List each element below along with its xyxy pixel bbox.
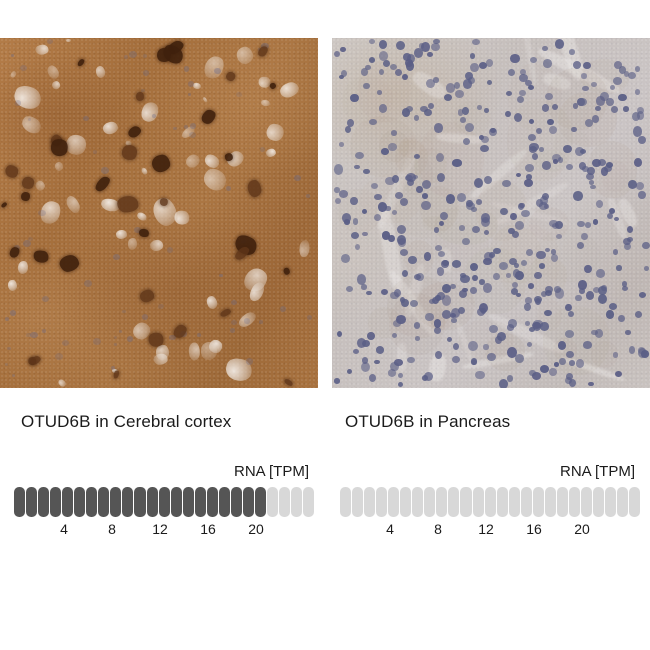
haematoxylin-nucleus (395, 69, 402, 76)
haematoxylin-nucleus (350, 94, 358, 103)
haematoxylin-nucleus (536, 251, 545, 260)
haematoxylin-nucleus (628, 72, 636, 79)
haematoxylin-nucleus (369, 57, 375, 63)
haematoxylin-nucleus (586, 291, 594, 299)
haematoxylin-nucleus (543, 59, 551, 68)
haematoxylin-nucleus (499, 262, 508, 270)
haematoxylin-nucleus (556, 234, 562, 239)
haematoxylin-nucleus (408, 256, 416, 264)
rna-bar-segment (533, 487, 544, 517)
haematoxylin-nucleus (583, 341, 592, 348)
haematoxylin-nucleus (363, 83, 370, 90)
haematoxylin-nucleus (595, 106, 601, 111)
haematoxylin-nucleus (376, 346, 384, 353)
rna-bar-segment (62, 487, 73, 517)
haematoxylin-nucleus (489, 128, 497, 136)
haematoxylin-nucleus (510, 54, 519, 63)
haematoxylin-nucleus (444, 94, 452, 101)
haematoxylin-nucleus (489, 252, 495, 258)
haematoxylin-nucleus (471, 358, 477, 365)
haematoxylin-nucleus (542, 161, 551, 169)
haematoxylin-nucleus (414, 322, 421, 328)
haematoxylin-nucleus (429, 299, 435, 304)
rna-bar-segment (279, 487, 290, 517)
glial-nucleus (11, 54, 14, 57)
haematoxylin-nucleus (558, 157, 563, 162)
rna-bar-segment (231, 487, 242, 517)
glial-nucleus (129, 51, 137, 58)
rna-gauge-cerebral-cortex: RNA [TPM] 48121620 (14, 462, 314, 541)
haematoxylin-nucleus (484, 230, 489, 235)
haematoxylin-nucleus (416, 186, 422, 192)
rna-bar-segment (50, 487, 61, 517)
haematoxylin-nucleus (470, 263, 478, 271)
rna-bar-segment (207, 487, 218, 517)
haematoxylin-nucleus (483, 258, 491, 265)
haematoxylin-nucleus (435, 245, 442, 251)
haematoxylin-nucleus (414, 115, 419, 120)
haematoxylin-nucleus (339, 142, 344, 146)
glial-nucleus (83, 116, 89, 121)
rna-tick-label: 4 (386, 521, 394, 537)
haematoxylin-nucleus (353, 218, 359, 224)
haematoxylin-nucleus (483, 344, 488, 349)
haematoxylin-nucleus (542, 104, 550, 112)
haematoxylin-nucleus (629, 346, 636, 353)
haematoxylin-nucleus (591, 82, 597, 87)
haematoxylin-nucleus (345, 126, 351, 133)
pancreas-image (332, 38, 650, 388)
haematoxylin-nucleus (526, 249, 533, 256)
haematoxylin-nucleus (529, 143, 538, 151)
haematoxylin-nucleus (431, 43, 440, 51)
rna-unit-label-pancreas: RNA [TPM] (340, 462, 640, 482)
haematoxylin-nucleus (434, 123, 443, 133)
haematoxylin-nucleus (396, 41, 405, 50)
haematoxylin-nucleus (397, 225, 406, 234)
haematoxylin-nucleus (357, 274, 366, 285)
haematoxylin-nucleus (400, 249, 408, 256)
glial-nucleus (10, 310, 16, 315)
haematoxylin-nucleus (334, 378, 340, 383)
rna-bar-track-pancreas (340, 487, 640, 517)
glial-nucleus (119, 330, 123, 333)
glial-nucleus (28, 237, 32, 241)
glial-nucleus (38, 210, 46, 217)
haematoxylin-nucleus (334, 187, 340, 193)
rna-tick-axis-pancreas: 48121620 (340, 519, 640, 541)
haematoxylin-nucleus (524, 303, 531, 311)
haematoxylin-nucleus (618, 94, 627, 102)
caption-cerebral-cortex: OTUD6B in Cerebral cortex (21, 412, 231, 432)
haematoxylin-nucleus (374, 194, 382, 201)
haematoxylin-nucleus (381, 148, 388, 155)
haematoxylin-nucleus (635, 89, 640, 94)
glial-nucleus (230, 328, 235, 333)
haematoxylin-nucleus (519, 74, 528, 82)
haematoxylin-nucleus (625, 330, 631, 335)
haematoxylin-nucleus (441, 260, 449, 268)
haematoxylin-nucleus (392, 210, 397, 215)
rna-tick-label: 20 (248, 521, 264, 537)
rna-bar-segment (412, 487, 423, 517)
glial-nucleus (12, 374, 15, 377)
haematoxylin-nucleus (569, 49, 575, 55)
rna-bar-segment (448, 487, 459, 517)
haematoxylin-nucleus (434, 327, 441, 334)
haematoxylin-nucleus (402, 270, 409, 277)
glial-nucleus (47, 39, 53, 44)
haematoxylin-nucleus (521, 260, 527, 266)
haematoxylin-nucleus (573, 191, 582, 201)
haematoxylin-nucleus (512, 282, 518, 288)
glial-nucleus (142, 314, 148, 320)
glial-nucleus (101, 167, 109, 174)
haematoxylin-nucleus (549, 368, 557, 376)
rna-bar-segment (134, 487, 145, 517)
micrograph-panel-pancreas[interactable] (332, 38, 650, 388)
haematoxylin-nucleus (463, 79, 472, 88)
glial-nucleus (62, 340, 69, 346)
rna-bar-segment (159, 487, 170, 517)
haematoxylin-nucleus (539, 263, 545, 268)
glial-nucleus (20, 65, 27, 71)
haematoxylin-nucleus (510, 213, 516, 220)
haematoxylin-nucleus (398, 382, 403, 387)
rna-bar-segment (38, 487, 49, 517)
rna-tick-label: 16 (200, 521, 216, 537)
haematoxylin-nucleus (521, 210, 530, 217)
haematoxylin-nucleus (433, 39, 440, 44)
haematoxylin-nucleus (438, 251, 445, 257)
haematoxylin-nucleus (481, 213, 490, 223)
haematoxylin-nucleus (577, 242, 584, 249)
haematoxylin-nucleus (388, 369, 397, 377)
haematoxylin-nucleus (437, 267, 444, 275)
haematoxylin-nucleus (342, 213, 351, 223)
haematoxylin-nucleus (540, 322, 549, 330)
haematoxylin-nucleus (529, 370, 535, 376)
tissue-vacuole (127, 238, 137, 250)
glial-nucleus (306, 194, 310, 197)
glial-nucleus (184, 125, 188, 129)
haematoxylin-nucleus (466, 200, 473, 207)
glial-nucleus (231, 320, 236, 325)
glial-nucleus (5, 317, 9, 321)
haematoxylin-nucleus (527, 342, 533, 347)
haematoxylin-nucleus (425, 313, 434, 320)
haematoxylin-nucleus (558, 341, 566, 350)
haematoxylin-nucleus (427, 52, 433, 57)
rna-bar-segment (617, 487, 628, 517)
haematoxylin-nucleus (472, 275, 478, 282)
haematoxylin-nucleus (484, 176, 492, 184)
haematoxylin-nucleus (514, 113, 522, 122)
glial-nucleus (246, 358, 254, 365)
rna-bar-segment (436, 487, 447, 517)
haematoxylin-nucleus (369, 39, 375, 44)
rna-bar-segment (424, 487, 435, 517)
haematoxylin-nucleus (611, 106, 618, 113)
rna-bar-segment (74, 487, 85, 517)
haematoxylin-nucleus (565, 330, 574, 338)
haematoxylin-nucleus (583, 62, 590, 69)
haematoxylin-nucleus (596, 96, 605, 106)
haematoxylin-nucleus (613, 249, 618, 254)
haematoxylin-nucleus (481, 136, 488, 143)
rna-bar-segment (581, 487, 592, 517)
haematoxylin-nucleus (460, 117, 466, 123)
haematoxylin-nucleus (451, 318, 456, 322)
haematoxylin-nucleus (542, 193, 549, 200)
haematoxylin-nucleus (460, 275, 469, 283)
rna-bar-segment (303, 487, 314, 517)
haematoxylin-nucleus (551, 249, 557, 255)
haematoxylin-nucleus (613, 77, 622, 85)
haematoxylin-nucleus (334, 51, 340, 57)
haematoxylin-nucleus (635, 66, 641, 72)
rna-tick-axis-cerebral-cortex: 48121620 (14, 519, 314, 541)
rna-bar-segment (243, 487, 254, 517)
haematoxylin-nucleus (406, 173, 415, 182)
haematoxylin-nucleus (422, 180, 431, 189)
haematoxylin-nucleus (434, 227, 439, 233)
haematoxylin-nucleus (542, 46, 548, 52)
haematoxylin-nucleus (530, 57, 537, 63)
rna-bar-segment (14, 487, 25, 517)
rna-tick-label: 12 (478, 521, 494, 537)
haematoxylin-nucleus (422, 193, 429, 199)
rna-tick-label: 12 (152, 521, 168, 537)
rna-bar-segment (352, 487, 363, 517)
haematoxylin-nucleus (589, 180, 594, 184)
haematoxylin-nucleus (440, 212, 448, 220)
haematoxylin-nucleus (575, 147, 584, 156)
rna-bar-segment (291, 487, 302, 517)
haematoxylin-nucleus (383, 60, 390, 67)
haematoxylin-nucleus (471, 207, 476, 212)
haematoxylin-nucleus (569, 360, 575, 365)
glial-nucleus (7, 347, 11, 350)
haematoxylin-nucleus (362, 232, 367, 237)
figure-root: OTUD6B in Cerebral cortex OTUD6B in Panc… (0, 0, 650, 650)
haematoxylin-nucleus (435, 295, 441, 300)
rna-bar-segment (147, 487, 158, 517)
haematoxylin-nucleus (447, 337, 452, 342)
haematoxylin-nucleus (452, 260, 461, 267)
haematoxylin-nucleus (407, 54, 415, 63)
haematoxylin-nucleus (614, 217, 619, 221)
rna-bar-segment (110, 487, 121, 517)
haematoxylin-nucleus (366, 291, 371, 295)
haematoxylin-nucleus (391, 130, 397, 136)
glial-nucleus (113, 254, 119, 260)
haematoxylin-nucleus (379, 104, 387, 112)
glial-nucleus (143, 70, 149, 75)
haematoxylin-nucleus (390, 292, 398, 300)
rna-bar-segment (629, 487, 640, 517)
haematoxylin-nucleus (575, 295, 581, 302)
rna-bar-segment (485, 487, 496, 517)
rna-bar-segment (557, 487, 568, 517)
haematoxylin-nucleus (508, 319, 516, 328)
haematoxylin-nucleus (355, 152, 364, 159)
haematoxylin-nucleus (454, 82, 460, 89)
haematoxylin-nucleus (606, 98, 614, 106)
rna-bar-segment (98, 487, 109, 517)
haematoxylin-nucleus (457, 193, 466, 202)
haematoxylin-nucleus (610, 85, 615, 90)
haematoxylin-nucleus (584, 265, 592, 273)
haematoxylin-nucleus (581, 233, 588, 240)
haematoxylin-nucleus (350, 197, 357, 205)
rna-bar-segment (195, 487, 206, 517)
rna-bar-segment (255, 487, 266, 517)
haematoxylin-nucleus (596, 200, 603, 208)
haematoxylin-nucleus (515, 354, 524, 363)
haematoxylin-nucleus (396, 315, 405, 324)
rna-bar-segment (122, 487, 133, 517)
glial-nucleus (23, 240, 30, 247)
rna-bar-segment (376, 487, 387, 517)
rna-tick-label: 20 (574, 521, 590, 537)
haematoxylin-nucleus (639, 292, 647, 298)
haematoxylin-nucleus (539, 147, 544, 152)
haematoxylin-nucleus (555, 39, 564, 49)
haematoxylin-nucleus (374, 360, 379, 364)
haematoxylin-nucleus (361, 362, 370, 372)
haematoxylin-nucleus (623, 106, 629, 112)
haematoxylin-nucleus (334, 164, 343, 174)
glial-nucleus (188, 81, 195, 87)
haematoxylin-nucleus (420, 106, 428, 112)
haematoxylin-nucleus (421, 201, 430, 210)
haematoxylin-nucleus (588, 382, 593, 386)
haematoxylin-nucleus (644, 266, 649, 271)
glial-nucleus (294, 175, 301, 181)
haematoxylin-nucleus (545, 290, 553, 296)
haematoxylin-nucleus (493, 273, 500, 280)
rna-bar-segment (593, 487, 604, 517)
haematoxylin-nucleus (442, 295, 451, 305)
haematoxylin-nucleus (470, 287, 476, 294)
haematoxylin-nucleus (367, 332, 374, 340)
haematoxylin-nucleus (576, 359, 585, 368)
rna-bar-segment (267, 487, 278, 517)
haematoxylin-nucleus (452, 356, 460, 363)
rna-bar-segment (388, 487, 399, 517)
haematoxylin-nucleus (601, 285, 607, 291)
haematoxylin-nucleus (627, 226, 633, 233)
glial-nucleus (55, 353, 62, 360)
rna-bar-segment (545, 487, 556, 517)
haematoxylin-nucleus (410, 300, 418, 307)
rna-bar-segment (183, 487, 194, 517)
haematoxylin-nucleus (453, 343, 460, 350)
haematoxylin-nucleus (516, 293, 521, 297)
haematoxylin-nucleus (483, 283, 492, 293)
haematoxylin-nucleus (474, 178, 483, 188)
haematoxylin-nucleus (486, 59, 493, 67)
haematoxylin-nucleus (446, 194, 455, 204)
tissue-vacuole (116, 230, 127, 239)
haematoxylin-nucleus (395, 192, 403, 199)
rna-bar-segment (460, 487, 471, 517)
haematoxylin-nucleus (377, 90, 382, 94)
haematoxylin-nucleus (475, 371, 484, 380)
haematoxylin-nucleus (507, 347, 516, 358)
haematoxylin-nucleus (450, 313, 457, 318)
haematoxylin-nucleus (606, 310, 613, 318)
haematoxylin-nucleus (528, 283, 534, 289)
rna-bar-segment (497, 487, 508, 517)
tissue-vacuole (200, 341, 217, 360)
glial-nucleus (259, 320, 263, 324)
haematoxylin-nucleus (439, 221, 444, 226)
haematoxylin-nucleus (506, 273, 511, 277)
haematoxylin-nucleus (484, 108, 489, 113)
haematoxylin-nucleus (582, 86, 588, 91)
haematoxylin-nucleus (406, 106, 413, 112)
haematoxylin-nucleus (563, 145, 572, 153)
haematoxylin-nucleus (369, 119, 377, 126)
haematoxylin-nucleus (339, 190, 348, 197)
haematoxylin-nucleus (361, 68, 368, 76)
rna-bar-segment (509, 487, 520, 517)
rna-bar-segment (26, 487, 37, 517)
rna-tick-label: 8 (434, 521, 442, 537)
haematoxylin-nucleus (388, 143, 396, 151)
tissue-vacuole (35, 44, 49, 54)
haematoxylin-nucleus (591, 330, 598, 336)
haematoxylin-nucleus (642, 242, 650, 249)
glial-nucleus (42, 296, 49, 302)
haematoxylin-nucleus (379, 69, 384, 75)
haematoxylin-nucleus (635, 311, 642, 318)
haematoxylin-nucleus (534, 272, 542, 280)
glial-nucleus (124, 55, 128, 59)
rna-bar-segment (569, 487, 580, 517)
haematoxylin-nucleus (596, 269, 605, 277)
haematoxylin-nucleus (613, 352, 619, 357)
haematoxylin-nucleus (361, 284, 367, 289)
haematoxylin-nucleus (480, 145, 488, 152)
rna-bar-segment (171, 487, 182, 517)
glial-nucleus (114, 336, 117, 339)
rna-bar-segment (364, 487, 375, 517)
haematoxylin-nucleus (590, 185, 596, 190)
haematoxylin-nucleus (437, 173, 445, 182)
haematoxylin-nucleus (346, 286, 353, 292)
haematoxylin-nucleus (479, 279, 485, 284)
haematoxylin-nucleus (374, 214, 381, 221)
micrograph-row (0, 38, 650, 388)
haematoxylin-nucleus (581, 73, 587, 78)
rna-bar-segment (521, 487, 532, 517)
micrograph-panel-cerebral-cortex[interactable] (0, 38, 318, 388)
rna-bar-segment (473, 487, 484, 517)
haematoxylin-nucleus (337, 331, 342, 337)
glial-nucleus (15, 100, 21, 106)
tissue-vacuole (7, 280, 17, 292)
tissue-vacuole (260, 99, 270, 107)
haematoxylin-nucleus (616, 265, 621, 270)
haematoxylin-nucleus (622, 281, 627, 287)
rna-tick-label: 4 (60, 521, 68, 537)
haematoxylin-nucleus (571, 127, 576, 132)
haematoxylin-nucleus (385, 206, 390, 210)
haematoxylin-nucleus (489, 325, 498, 333)
